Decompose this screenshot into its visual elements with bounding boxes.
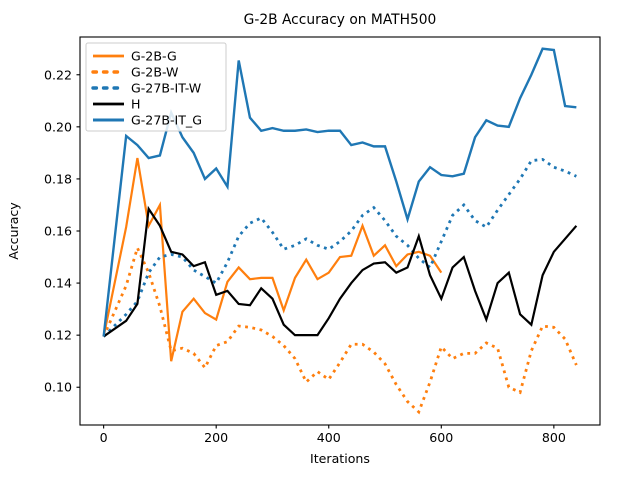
matplotlib-figure: G-2B Accuracy on MATH500 02004006008000.… [0, 0, 640, 480]
y-axis-label: Accuracy [6, 202, 21, 260]
chart-canvas: G-2B Accuracy on MATH500 02004006008000.… [0, 0, 640, 480]
y-tick-label: 0.16 [44, 224, 72, 239]
y-tick-label: 0.14 [44, 276, 72, 291]
legend-label: G-2B-G [131, 49, 177, 64]
chart-legend[interactable]: G-2B-GG-2B-WG-27B-IT-WHG-27B-IT_G [86, 43, 226, 131]
y-tick-label: 0.10 [44, 380, 72, 395]
x-tick-label: 400 [317, 430, 341, 445]
legend-label: G-27B-IT-W [131, 81, 202, 96]
x-axis-label: Iterations [310, 451, 370, 466]
y-tick-label: 0.18 [44, 171, 72, 186]
legend-label: H [131, 97, 140, 112]
chart-title: G-2B Accuracy on MATH500 [244, 12, 437, 28]
y-tick-label: 0.20 [44, 119, 72, 134]
x-tick-label: 200 [204, 430, 228, 445]
x-tick-label: 600 [429, 430, 453, 445]
y-tick-label: 0.12 [44, 328, 72, 343]
x-tick-label: 0 [100, 430, 108, 445]
x-tick-label: 800 [542, 430, 566, 445]
y-tick-label: 0.22 [44, 67, 72, 82]
legend-label: G-27B-IT_G [131, 113, 202, 128]
legend-label: G-2B-W [131, 65, 179, 80]
